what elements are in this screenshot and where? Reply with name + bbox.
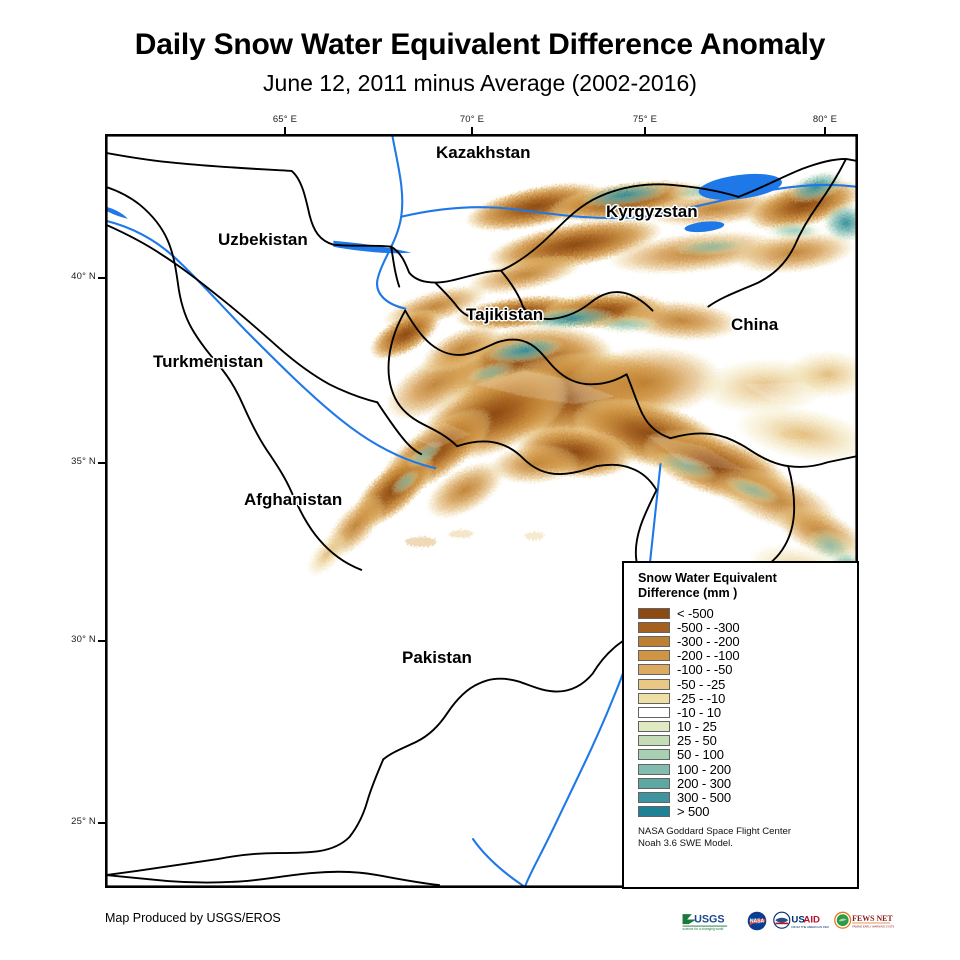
- legend-row: -200 - -100: [638, 649, 857, 663]
- legend-swatch: [638, 707, 670, 718]
- page-subtitle: June 12, 2011 minus Average (2002-2016): [0, 70, 960, 97]
- legend-swatch: [638, 764, 670, 775]
- lon-tick-label-80E: 80° E: [795, 114, 855, 125]
- legend-row: -300 - -200: [638, 634, 857, 648]
- legend-row: 200 - 300: [638, 776, 857, 790]
- svg-text:science for a changing world: science for a changing world: [683, 927, 724, 931]
- legend-swatch: [638, 806, 670, 817]
- legend-swatch: [638, 792, 670, 803]
- page-title: Daily Snow Water Equivalent Difference A…: [0, 28, 960, 62]
- legend-row: -25 - -10: [638, 691, 857, 705]
- map-legend: Snow Water Equivalent Difference (mm ) <…: [622, 561, 859, 889]
- legend-swatch: [638, 749, 670, 760]
- legend-row: -10 - 10: [638, 705, 857, 719]
- country-label-afghanistan: Afghanistan: [244, 490, 342, 510]
- legend-swatch: [638, 622, 670, 633]
- svg-text:FEWS NET: FEWS NET: [852, 914, 893, 923]
- legend-swatch: [638, 608, 670, 619]
- country-label-tajikistan: Tajikistan: [466, 305, 543, 325]
- legend-title: Snow Water Equivalent Difference (mm ): [638, 571, 857, 601]
- legend-label: -50 - -25: [677, 679, 725, 690]
- country-label-kyrgyzstan: Kyrgyzstan: [606, 202, 698, 222]
- legend-swatch: [638, 721, 670, 732]
- legend-label: 25 - 50: [677, 735, 717, 746]
- legend-row: 50 - 100: [638, 748, 857, 762]
- legend-swatch: [638, 735, 670, 746]
- legend-swatch: [638, 636, 670, 647]
- svg-text:AID: AID: [803, 915, 820, 926]
- usaid-logo[interactable]: US AID FROM THE AMERICAN PEOPLE: [773, 910, 829, 932]
- legend-row: 100 - 200: [638, 762, 857, 776]
- legend-label: -200 - -100: [677, 650, 740, 661]
- legend-row: 300 - 500: [638, 790, 857, 804]
- nasa-logo[interactable]: NASA: [746, 910, 768, 932]
- map-canvas[interactable]: Kazakhstan Uzbekistan Kyrgyzstan Turkmen…: [105, 134, 858, 888]
- legend-label: -500 - -300: [677, 622, 740, 633]
- legend-label: -300 - -200: [677, 636, 740, 647]
- legend-row: 25 - 50: [638, 734, 857, 748]
- legend-row: < -500: [638, 606, 857, 620]
- legend-row: > 500: [638, 805, 857, 819]
- country-label-kazakhstan: Kazakhstan: [436, 143, 530, 163]
- map-page: Daily Snow Water Equivalent Difference A…: [0, 0, 960, 960]
- svg-text:FROM THE AMERICAN PEOPLE: FROM THE AMERICAN PEOPLE: [791, 925, 829, 929]
- legend-attribution: NASA Goddard Space Flight Center Noah 3.…: [638, 826, 857, 851]
- legend-label: 50 - 100: [677, 749, 724, 760]
- svg-text:USGS: USGS: [694, 914, 724, 926]
- legend-swatch: [638, 693, 670, 704]
- partner-logos: USGS science for a changing world NASA U…: [681, 908, 894, 934]
- legend-row: -500 - -300: [638, 620, 857, 634]
- legend-row: 10 - 25: [638, 720, 857, 734]
- legend-class-list: < -500-500 - -300-300 - -200-200 - -100-…: [638, 606, 857, 819]
- usgs-logo[interactable]: USGS science for a changing world: [681, 910, 741, 932]
- legend-label: 100 - 200: [677, 764, 731, 775]
- lat-tick-label-35N: 35° N: [40, 456, 96, 467]
- legend-row: -50 - -25: [638, 677, 857, 691]
- legend-label: -100 - -50: [677, 664, 732, 675]
- fewsnet-logo[interactable]: FEWS NET FAMINE EARLY WARNING SYSTEMS NE…: [834, 910, 894, 932]
- svg-text:FAMINE EARLY WARNING SYSTEMS N: FAMINE EARLY WARNING SYSTEMS NETWORK: [852, 924, 894, 928]
- legend-swatch: [638, 650, 670, 661]
- svg-text:NASA: NASA: [750, 919, 765, 925]
- lat-tick-label-25N: 25° N: [40, 816, 96, 827]
- country-label-china: China: [731, 315, 778, 335]
- legend-label: -25 - -10: [677, 693, 725, 704]
- legend-label: 200 - 300: [677, 778, 731, 789]
- legend-label: > 500: [677, 806, 709, 817]
- lat-tick-label-40N: 40° N: [40, 271, 96, 282]
- legend-swatch: [638, 778, 670, 789]
- legend-swatch: [638, 679, 670, 690]
- lon-tick-label-75E: 75° E: [615, 114, 675, 125]
- legend-swatch: [638, 664, 670, 675]
- country-label-turkmenistan: Turkmenistan: [153, 352, 263, 372]
- country-label-pakistan: Pakistan: [402, 648, 472, 668]
- legend-row: -100 - -50: [638, 663, 857, 677]
- lon-tick-label-65E: 65° E: [255, 114, 315, 125]
- lat-tick-label-30N: 30° N: [40, 634, 96, 645]
- country-label-uzbekistan: Uzbekistan: [218, 230, 308, 250]
- legend-label: -10 - 10: [677, 707, 721, 718]
- legend-label: 300 - 500: [677, 792, 731, 803]
- lon-tick-label-70E: 70° E: [442, 114, 502, 125]
- legend-label: 10 - 25: [677, 721, 717, 732]
- legend-label: < -500: [677, 608, 714, 619]
- footer-credit: Map Produced by USGS/EROS: [105, 911, 281, 925]
